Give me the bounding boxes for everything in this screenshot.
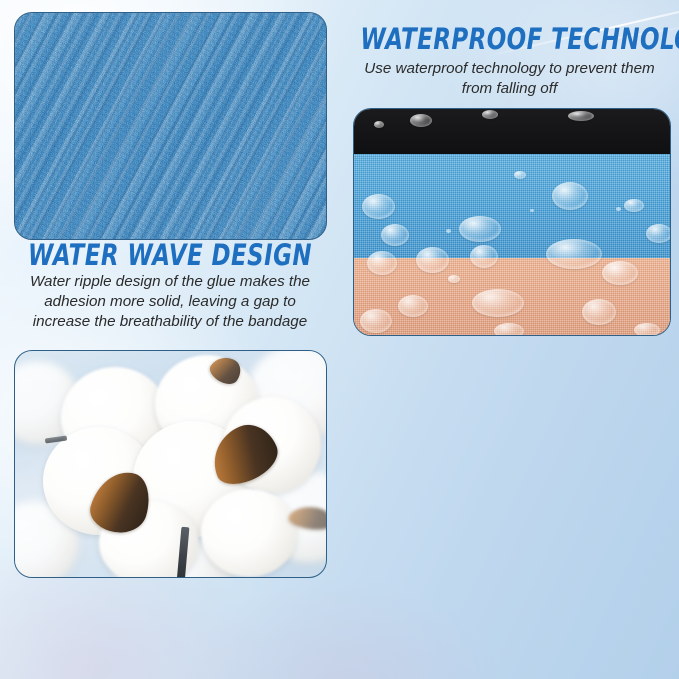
panel-body-waterproof-technology: Use waterproof technology to prevent the… (356, 59, 663, 99)
panel-heading-waterproof-technology: WATERPROOF TECHNOLOGY (360, 24, 658, 54)
panel-waterproof-technology: WATERPROOF TECHNOLOGY Use waterproof tec… (340, 0, 679, 340)
fabric-band-tan (354, 258, 670, 335)
fabric-band-dark (354, 109, 670, 154)
panel-water-wave-design: WATER WAVE DESIGN Water ripple design of… (0, 0, 340, 340)
waterproof-fabric-droplets-image (353, 108, 671, 336)
product-feature-infographic: WATER WAVE DESIGN Water ripple design of… (0, 0, 679, 679)
cotton-boll (201, 489, 297, 577)
panel-hypoallergenic: HYPOALLERGENIC It uses cotton and German… (0, 340, 340, 679)
texture-speckle-overlay (15, 13, 326, 239)
panel-excellent-ductility: EXCELLENT DUCTILITY It can reach 120%-15… (340, 340, 679, 679)
fabric-band-blue (354, 154, 670, 258)
cotton-bolls-image (14, 350, 327, 578)
water-wave-texture-image (14, 12, 327, 240)
panel-body-water-wave-design: Water ripple design of the glue makes th… (16, 272, 324, 331)
panel-heading-water-wave-design: WATER WAVE DESIGN (20, 240, 319, 270)
